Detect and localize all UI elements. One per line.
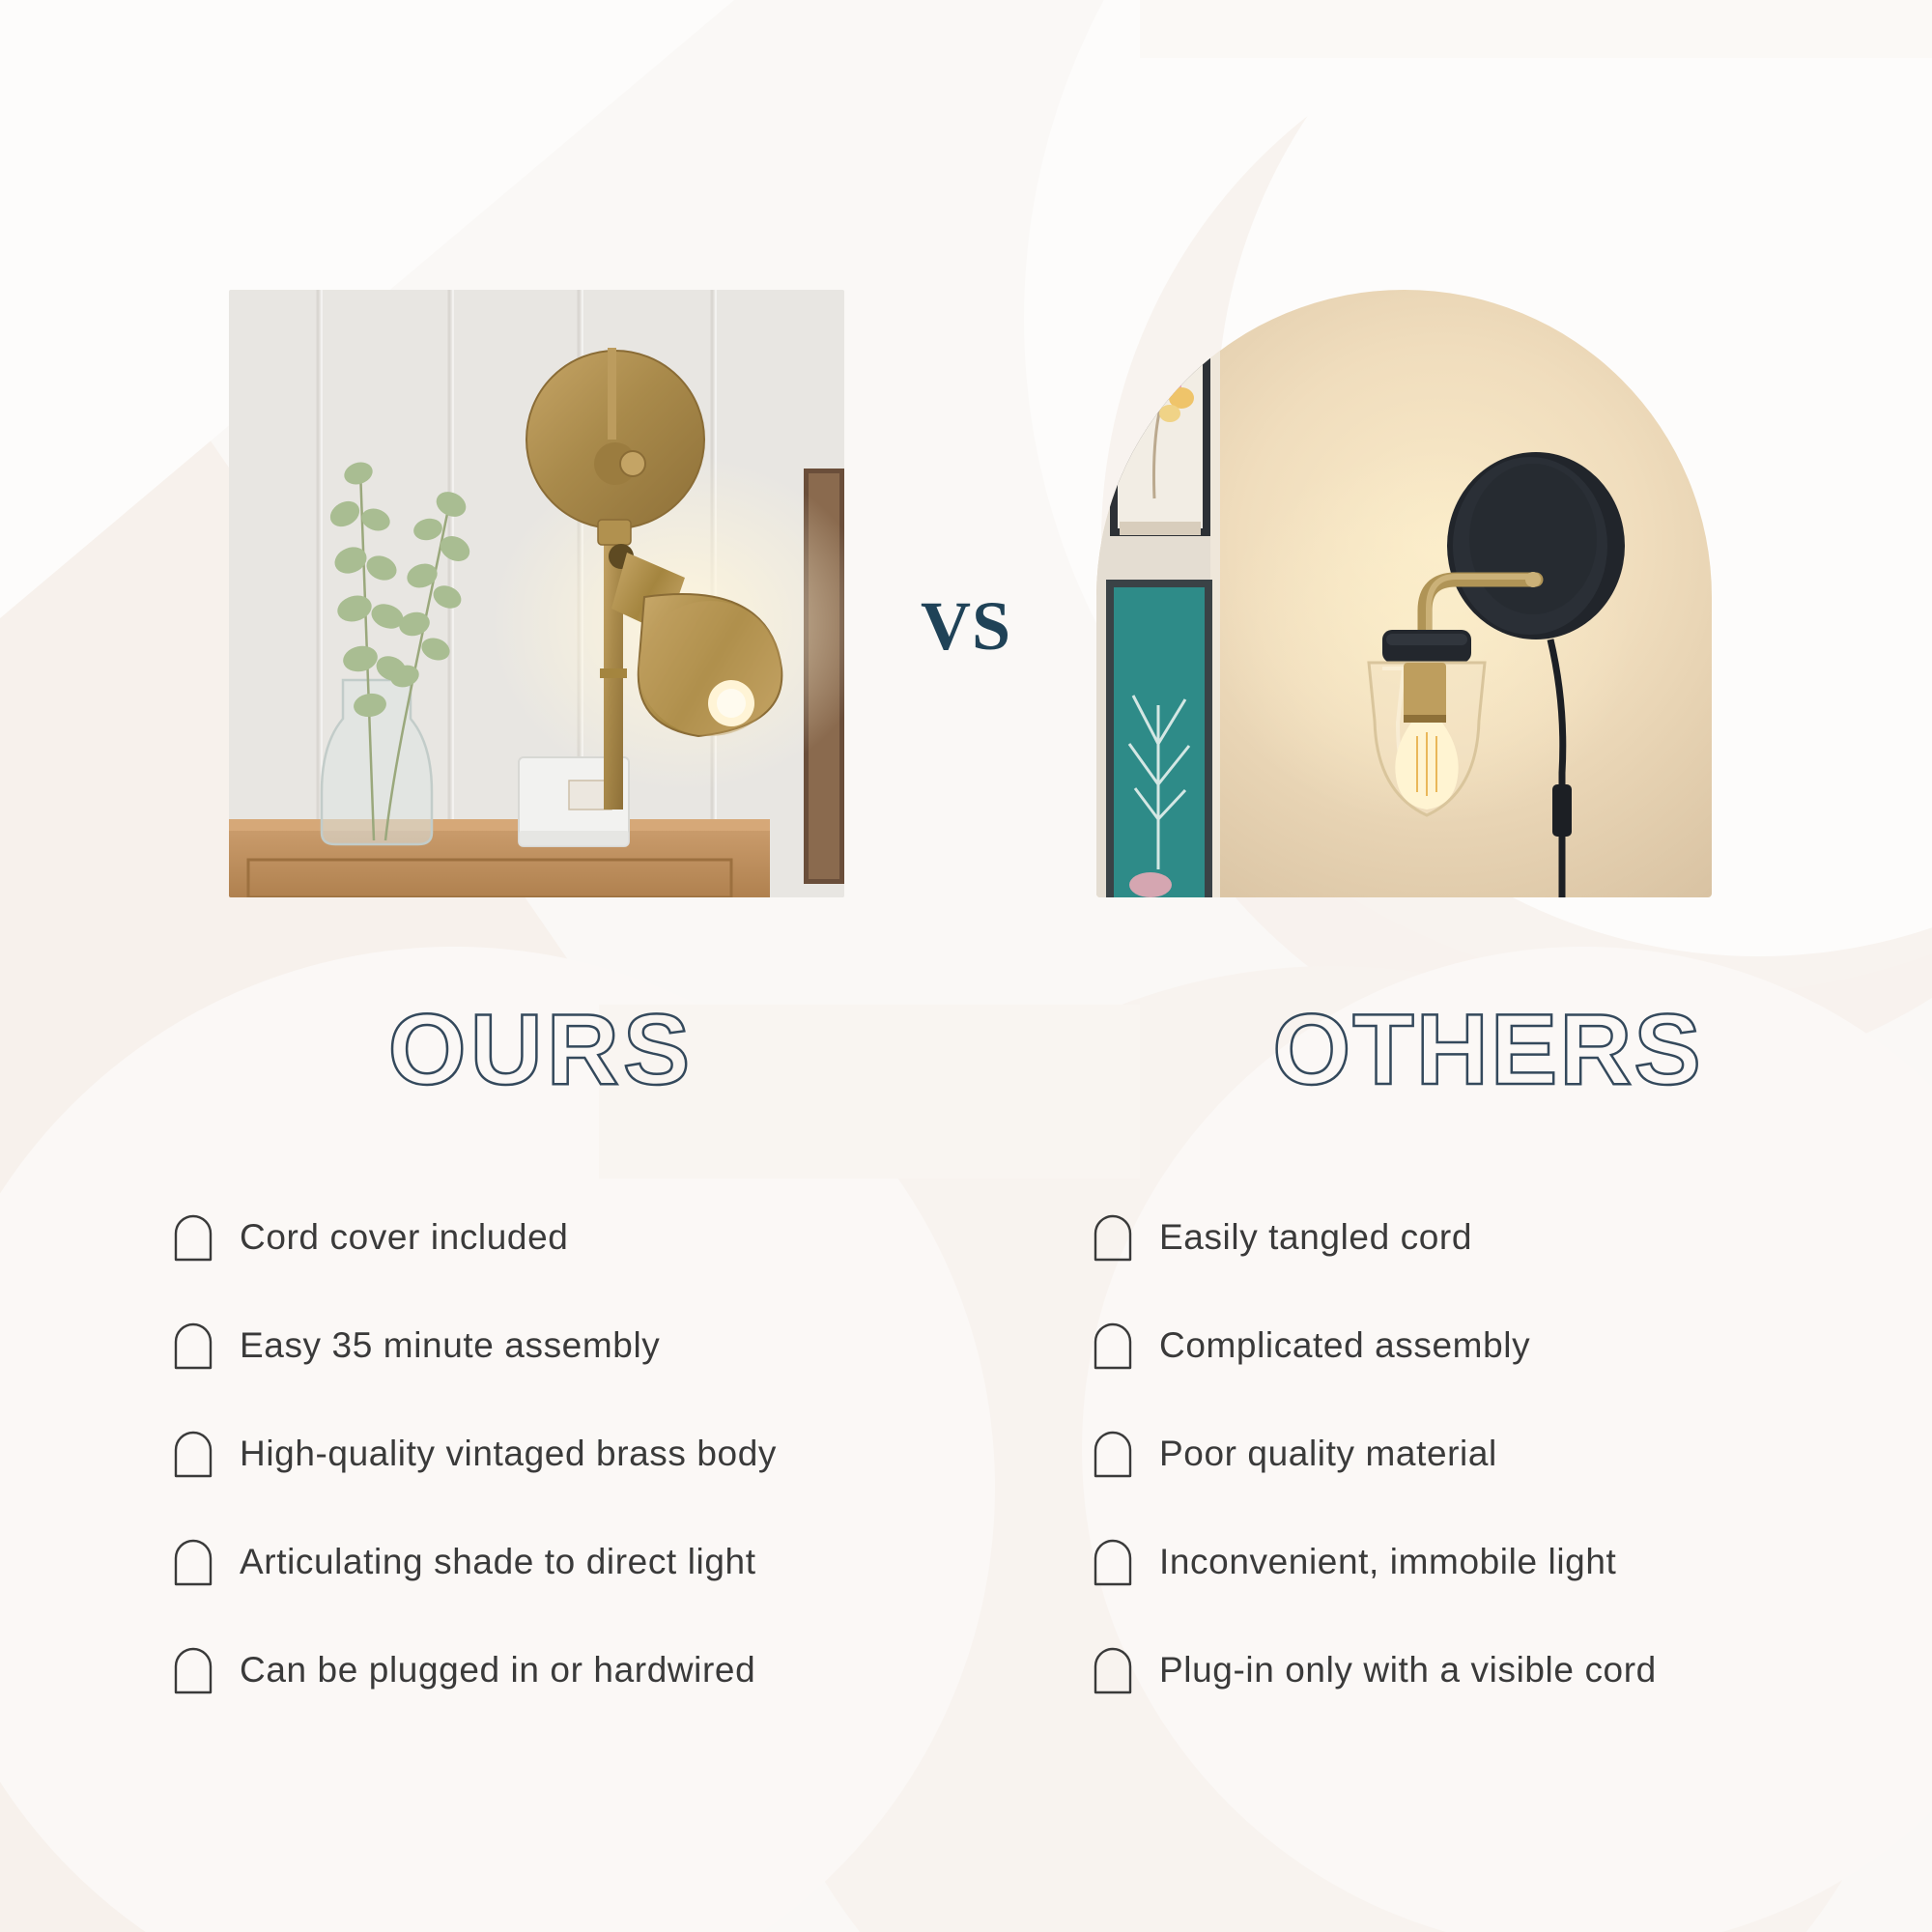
arch-bullet-icon <box>174 1214 213 1262</box>
arch-bullet-icon <box>1094 1539 1132 1586</box>
list-item: Poor quality material <box>1094 1400 1913 1508</box>
list-item-label: Plug-in only with a visible cord <box>1159 1650 1657 1690</box>
list-item: Complicated assembly <box>1094 1292 1913 1400</box>
list-item-label: Articulating shade to direct light <box>240 1542 756 1582</box>
ours-feature-list: Cord cover included Easy 35 minute assem… <box>116 1183 966 1724</box>
list-item-label: Easily tangled cord <box>1159 1217 1472 1258</box>
arch-bullet-icon <box>174 1539 213 1586</box>
black-glass-plugin-sconce-photo <box>1096 290 1712 897</box>
others-product-image <box>1096 290 1712 897</box>
ours-heading: OURS <box>116 1000 966 1106</box>
list-item: Can be plugged in or hardwired <box>174 1616 966 1724</box>
ours-column: OURS Cord cover included Easy 35 minute … <box>116 1000 966 1724</box>
arch-bullet-icon <box>1094 1322 1132 1370</box>
arch-bullet-icon <box>174 1431 213 1478</box>
list-item-label: Easy 35 minute assembly <box>240 1325 660 1366</box>
list-item: Cord cover included <box>174 1183 966 1292</box>
list-item-label: High-quality vintaged brass body <box>240 1434 777 1474</box>
list-item-label: Can be plugged in or hardwired <box>240 1650 755 1690</box>
list-item: Articulating shade to direct light <box>174 1508 966 1616</box>
list-item-label: Complicated assembly <box>1159 1325 1530 1366</box>
brass-wall-sconce-photo <box>229 290 844 897</box>
others-heading: OTHERS <box>1063 1000 1913 1106</box>
others-column: OTHERS Easily tangled cord Complicated a… <box>1063 1000 1913 1724</box>
list-item-label: Inconvenient, immobile light <box>1159 1542 1616 1582</box>
others-feature-list: Easily tangled cord Complicated assembly… <box>1063 1183 1913 1724</box>
list-item: Easily tangled cord <box>1094 1183 1913 1292</box>
list-item: High-quality vintaged brass body <box>174 1400 966 1508</box>
list-item-label: Cord cover included <box>240 1217 568 1258</box>
list-item: Plug-in only with a visible cord <box>1094 1616 1913 1724</box>
arch-bullet-icon <box>1094 1647 1132 1694</box>
list-item: Easy 35 minute assembly <box>174 1292 966 1400</box>
arch-bullet-icon <box>174 1322 213 1370</box>
ours-product-image <box>229 290 844 897</box>
list-item-label: Poor quality material <box>1159 1434 1497 1474</box>
list-item: Inconvenient, immobile light <box>1094 1508 1913 1616</box>
comparison-stage: VS <box>0 0 1932 1932</box>
arch-bullet-icon <box>1094 1431 1132 1478</box>
arch-bullet-icon <box>174 1647 213 1694</box>
vs-divider-label: VS <box>908 591 1024 661</box>
arch-bullet-icon <box>1094 1214 1132 1262</box>
